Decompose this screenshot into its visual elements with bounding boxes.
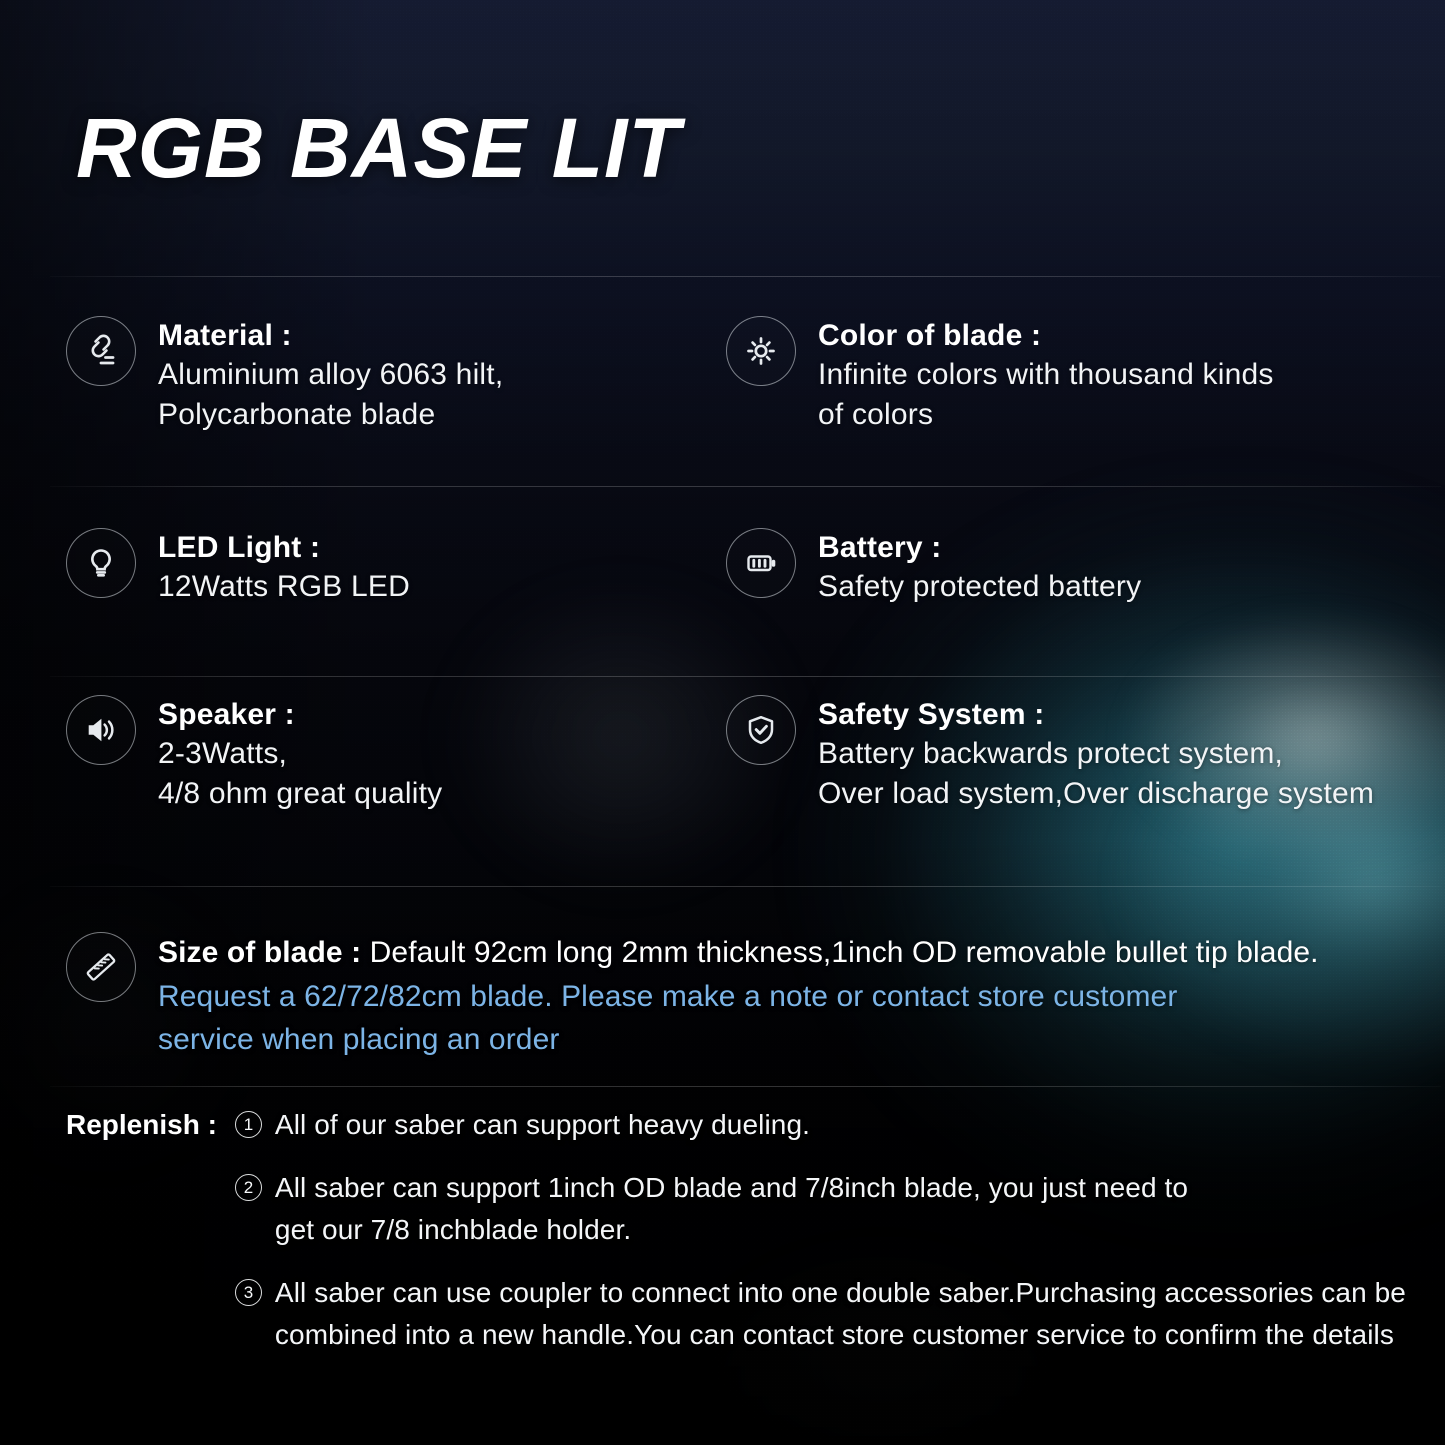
spec-text-speaker: Speaker : 2-3Watts, 4/8 ohm great qualit…: [158, 695, 442, 814]
battery-icon: [726, 528, 796, 598]
sun-brightness-icon: [726, 316, 796, 386]
list-number-badge: 1: [235, 1111, 262, 1138]
spec-value: 2-3Watts, 4/8 ohm great quality: [158, 734, 442, 814]
list-item-text: All saber can support 1inch OD blade and…: [275, 1167, 1188, 1250]
spec-label: Material :: [158, 318, 503, 355]
divider-5: [50, 1086, 1441, 1087]
list-item: 1 All of our saber can support heavy due…: [235, 1104, 1426, 1145]
spec-text-led-light: LED Light : 12Watts RGB LED: [158, 528, 410, 607]
divider-3: [50, 676, 1441, 677]
spec-card-canvas: RGB BASE LIT Material : Aluminium alloy …: [0, 0, 1445, 1445]
size-of-blade-main: Size of blade : Default 92cm long 2mm th…: [158, 932, 1319, 975]
spec-item-safety-system: Safety System : Battery backwards protec…: [726, 695, 1374, 814]
spec-item-battery: Battery : Safety protected battery: [726, 528, 1141, 607]
list-item: 3 All saber can use coupler to connect i…: [235, 1272, 1426, 1355]
divider-2: [50, 486, 1441, 487]
list-number-badge: 2: [235, 1174, 262, 1201]
spec-item-size-of-blade: Size of blade : Default 92cm long 2mm th…: [66, 932, 1418, 1062]
spec-item-material: Material : Aluminium alloy 6063 hilt, Po…: [66, 316, 503, 435]
link-material-icon: [66, 316, 136, 386]
divider-1: [50, 276, 1441, 277]
spec-text-safety-system: Safety System : Battery backwards protec…: [818, 695, 1374, 814]
spec-value: 12Watts RGB LED: [158, 567, 410, 607]
size-of-blade-text: Size of blade : Default 92cm long 2mm th…: [158, 932, 1319, 1062]
page-title: RGB BASE LIT: [76, 100, 681, 197]
size-of-blade-note: Request a 62/72/82cm blade. Please make …: [158, 975, 1319, 1063]
spec-text-color-of-blade: Color of blade : Infinite colors with th…: [818, 316, 1274, 435]
spec-item-color-of-blade: Color of blade : Infinite colors with th…: [726, 316, 1274, 435]
lightbulb-icon: [66, 528, 136, 598]
replenish-section: Replenish : 1 All of our saber can suppo…: [66, 1104, 1426, 1355]
list-item-text: All of our saber can support heavy dueli…: [275, 1104, 810, 1145]
spec-value: Aluminium alloy 6063 hilt, Polycarbonate…: [158, 355, 503, 435]
replenish-list: 1 All of our saber can support heavy due…: [235, 1104, 1426, 1355]
spec-item-speaker: Speaker : 2-3Watts, 4/8 ohm great qualit…: [66, 695, 442, 814]
card-content: RGB BASE LIT Material : Aluminium alloy …: [0, 0, 1445, 1445]
spec-label: Speaker :: [158, 697, 442, 734]
spec-item-led-light: LED Light : 12Watts RGB LED: [66, 528, 410, 607]
size-of-blade-label: Size of blade :: [158, 936, 361, 969]
spec-label: Safety System :: [818, 697, 1374, 734]
list-number-badge: 3: [235, 1279, 262, 1306]
list-item-text: All saber can use coupler to connect int…: [275, 1272, 1406, 1355]
spec-value: Battery backwards protect system, Over l…: [818, 734, 1374, 814]
spec-label: LED Light :: [158, 530, 410, 567]
spec-text-material: Material : Aluminium alloy 6063 hilt, Po…: [158, 316, 503, 435]
shield-check-icon: [726, 695, 796, 765]
spec-label: Battery :: [818, 530, 1141, 567]
replenish-label: Replenish :: [66, 1104, 217, 1146]
divider-4: [50, 886, 1441, 887]
spec-text-battery: Battery : Safety protected battery: [818, 528, 1141, 607]
speaker-icon: [66, 695, 136, 765]
list-item: 2 All saber can support 1inch OD blade a…: [235, 1167, 1426, 1250]
size-of-blade-value: Default 92cm long 2mm thickness,1inch OD…: [370, 936, 1319, 969]
spec-value: Infinite colors with thousand kinds of c…: [818, 355, 1274, 435]
ruler-icon: [66, 932, 136, 1002]
spec-label: Color of blade :: [818, 318, 1274, 355]
spec-value: Safety protected battery: [818, 567, 1141, 607]
